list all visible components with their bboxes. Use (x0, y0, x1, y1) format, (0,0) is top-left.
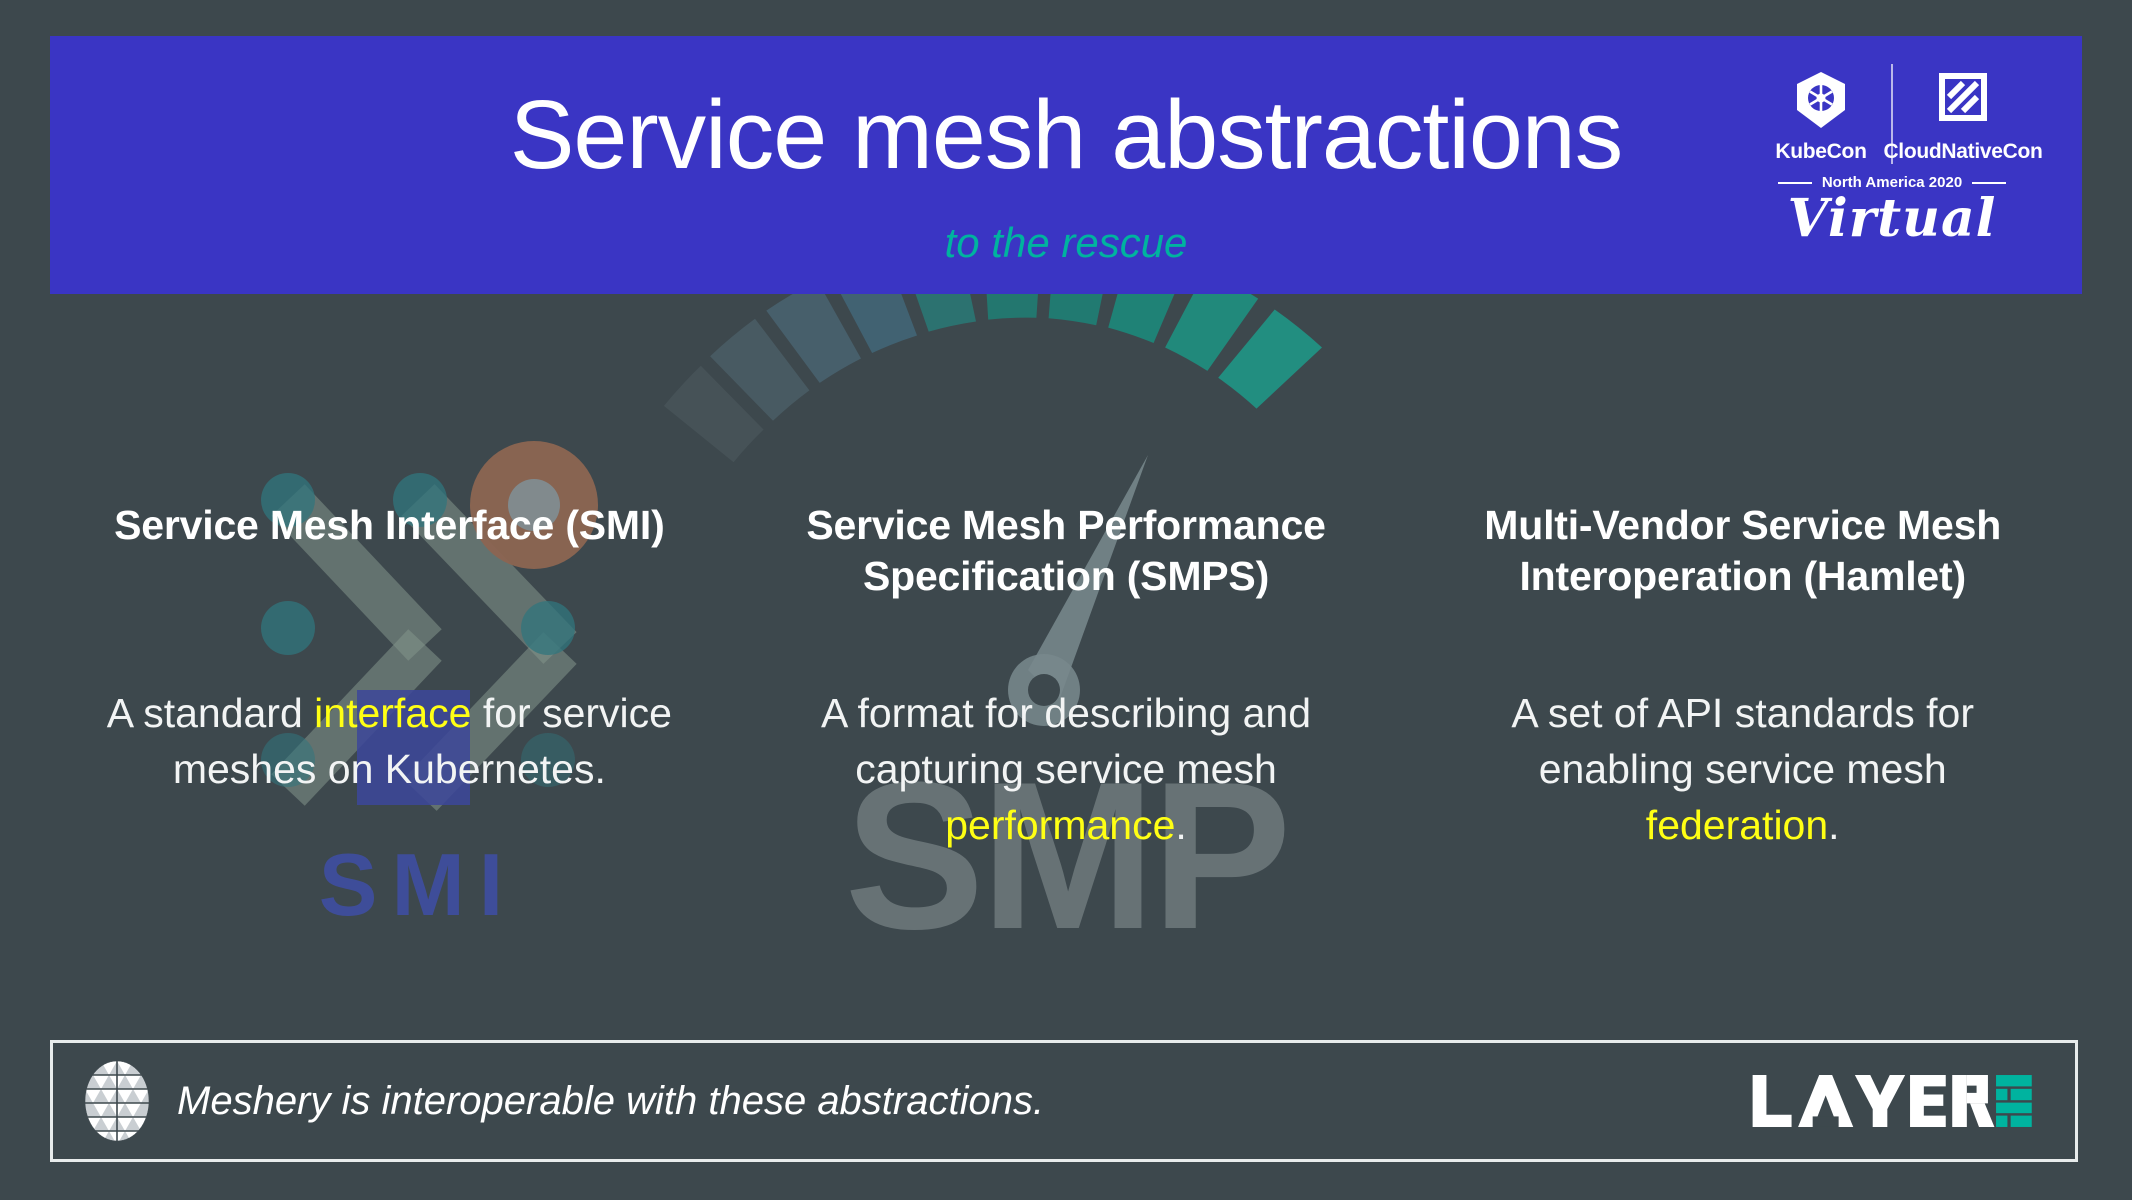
layer5-letter-y (1855, 1075, 1905, 1127)
layer5-letter-a-bar (1813, 1116, 1839, 1127)
virtual-label: Virtual (1742, 193, 2042, 245)
rule-right (1972, 182, 2006, 184)
column-description: A standard interface for service meshes … (60, 686, 719, 798)
slide-canvas: SMI SMP (0, 0, 2132, 1200)
column-title: Service Mesh Performance Specification (… (737, 500, 1396, 612)
description-highlight: interface (314, 690, 471, 736)
rule-left (1778, 182, 1812, 184)
layer5-letter-l (1753, 1075, 1792, 1127)
description-text-before: A standard (107, 690, 314, 736)
description-text-before: A set of API standards for enabling serv… (1511, 690, 1974, 792)
description-highlight: performance (945, 802, 1175, 848)
kubecon-label: KubeCon (1775, 140, 1866, 164)
layer5-five-upper-right (2011, 1089, 2032, 1100)
column-description: A format for describing and capturing se… (737, 686, 1396, 853)
meshery-mesh-circle-icon (83, 1059, 151, 1143)
layer5-five-glyph (1996, 1075, 2032, 1127)
layer5-logo (1751, 1066, 2035, 1136)
column-description: A set of API standards for enabling serv… (1413, 686, 2072, 853)
cloudnativecon-label: CloudNativeCon (1883, 140, 2042, 164)
layer5-five-bottom-left (1996, 1116, 2007, 1127)
kubernetes-helm-icon: KubeCon (1761, 70, 1881, 164)
column-title: Service Mesh Interface (SMI) (60, 500, 719, 612)
layer5-five-bottom (2011, 1116, 2032, 1127)
description-highlight: federation (1646, 802, 1828, 848)
abstractions-columns: Service Mesh Interface (SMI) A standard … (60, 500, 2072, 853)
title-banner: Service mesh abstractions to the rescue (50, 36, 2082, 294)
layer5-letter-r-bowl (1967, 1075, 1988, 1103)
description-text-before: A format for describing and capturing se… (821, 690, 1311, 792)
layer5-five-upper-left (1996, 1089, 2007, 1100)
column-hamlet: Multi-Vendor Service Mesh Interoperation… (1413, 500, 2072, 853)
cncf-cloud-icon: CloudNativeCon (1903, 70, 2023, 164)
description-text-after: . (1828, 802, 1839, 848)
layer5-letter-e (1910, 1075, 1946, 1127)
column-smps: Service Mesh Performance Specification (… (737, 500, 1396, 853)
kubecon-cloudnativecon-logo: KubeCon CloudNativeCon North America 202… (1742, 60, 2042, 270)
footer-callout: Meshery is interoperable with these abst… (50, 1040, 2078, 1162)
column-smi: Service Mesh Interface (SMI) A standard … (60, 500, 719, 853)
layer5-five-middle (1996, 1103, 2032, 1114)
footer-message: Meshery is interoperable with these abst… (177, 1079, 1751, 1124)
layer5-letter-r-leg (1970, 1103, 1994, 1127)
column-title: Multi-Vendor Service Mesh Interoperation… (1413, 500, 2072, 612)
layer5-letter-r-stem (1952, 1075, 1967, 1127)
description-text-after: . (1175, 802, 1186, 848)
layer5-five-top (1996, 1075, 2032, 1086)
